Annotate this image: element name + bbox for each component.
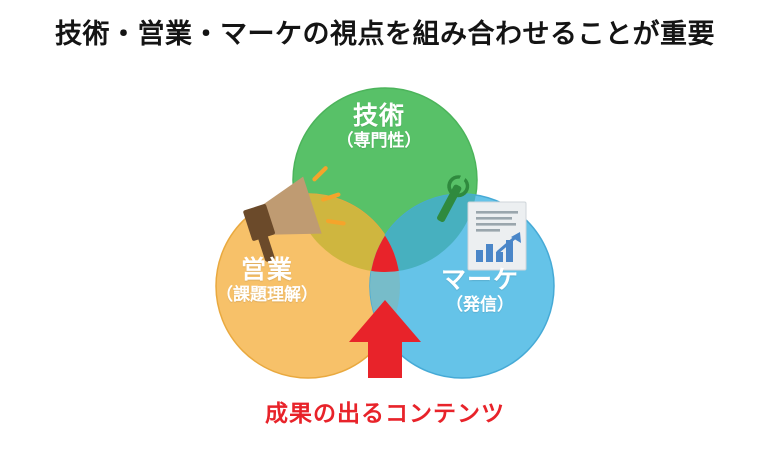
venn-svg (0, 78, 770, 388)
report-chart-icon (468, 202, 526, 270)
page-title: 技術・営業・マーケの視点を組み合わせることが重要 (0, 18, 770, 52)
venn-diagram: 技術 （専門性） 営業 （課題理解） マーケ （発信） (0, 78, 770, 388)
result-caption: 成果の出るコンテンツ (0, 394, 770, 428)
